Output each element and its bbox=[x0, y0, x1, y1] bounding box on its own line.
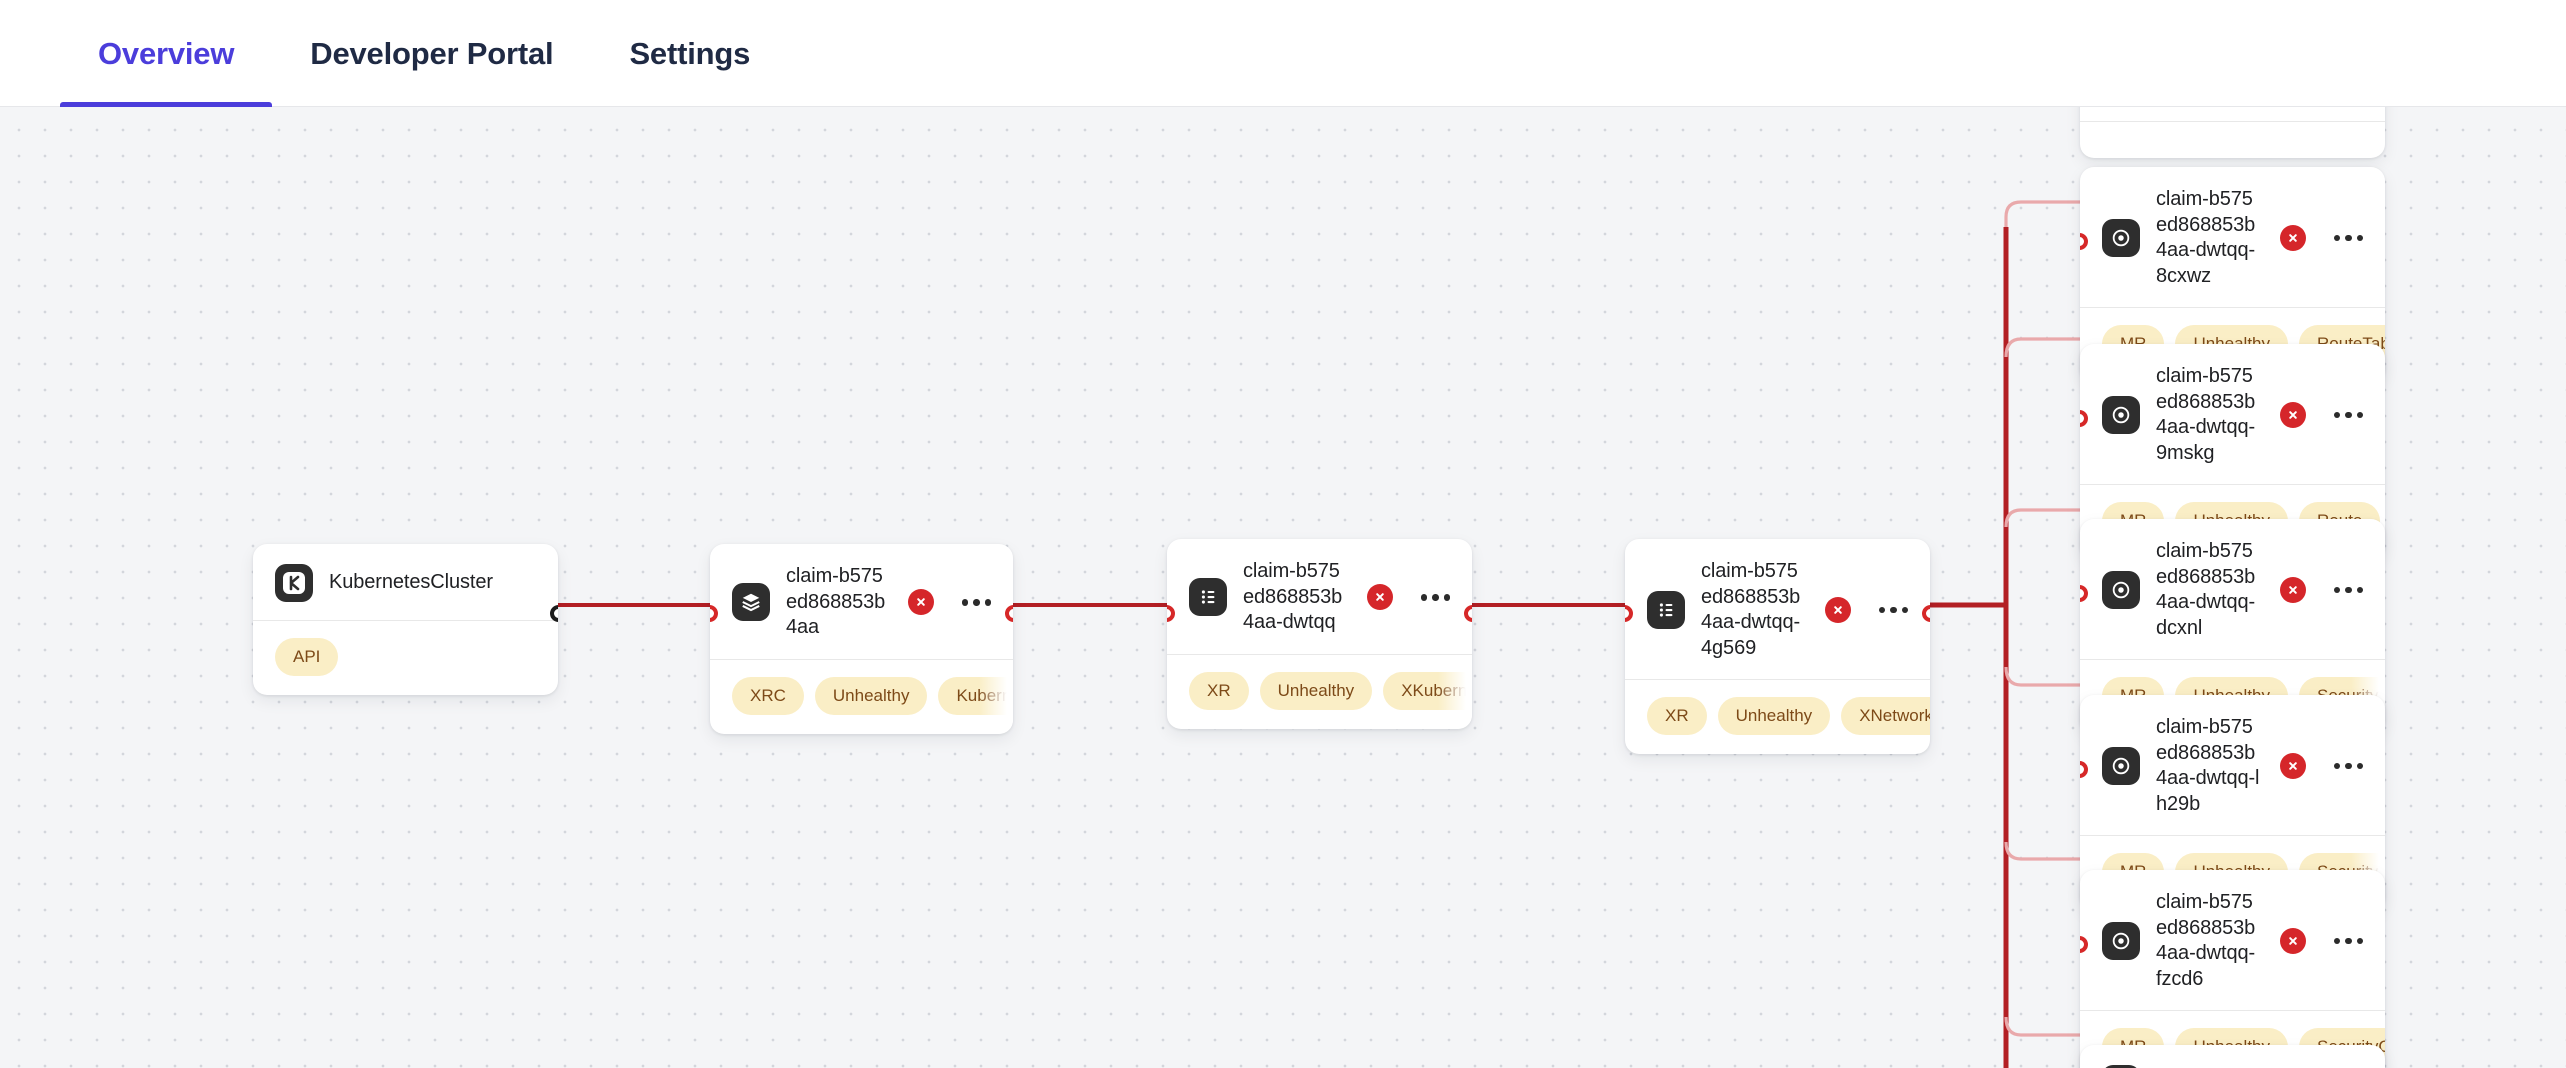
node-claim-xrc[interactable]: claim-b575ed868853b4aa XRC Unhealthy Kub… bbox=[710, 544, 1013, 734]
target-circle-icon bbox=[2102, 747, 2140, 785]
target-circle-icon bbox=[2102, 571, 2140, 609]
node-header: claim-b575ed868853b4aa bbox=[710, 544, 1013, 659]
tag-pill: XKubernetesCluster bbox=[1383, 672, 1472, 710]
node-title: claim-b575ed868853b4aa bbox=[786, 564, 892, 641]
tab-overview[interactable]: Overview bbox=[60, 0, 272, 107]
node-managed-resource-partial-top[interactable] bbox=[2080, 107, 2385, 158]
node-menu-icon[interactable] bbox=[2322, 757, 2368, 776]
node-menu-icon[interactable] bbox=[2322, 229, 2368, 248]
node-header: KubernetesCluster bbox=[253, 544, 558, 620]
target-circle-icon bbox=[2102, 219, 2140, 257]
node-tags: XR Unhealthy XKubernetesCluster bbox=[1167, 655, 1472, 729]
node-menu-icon[interactable] bbox=[2322, 932, 2368, 951]
node-claim-dwtqq[interactable]: claim-b575ed868853b4aa-dwtqq XR Unhealth… bbox=[1167, 539, 1472, 729]
node-tags: XRC Unhealthy KubernetesCluster bbox=[710, 660, 1013, 734]
node-header: claim-b575ed868853b4aa-dwtqq-9mskg bbox=[2080, 344, 2385, 484]
node-managed-resource-partial-bottom[interactable] bbox=[2080, 1045, 2385, 1068]
error-badge-icon[interactable] bbox=[2280, 577, 2306, 603]
tag-pill: Unhealthy bbox=[1260, 672, 1373, 710]
error-badge-icon[interactable] bbox=[1825, 597, 1851, 623]
node-title: claim-b575ed868853b4aa-dwtqq-lh29b bbox=[2156, 715, 2264, 817]
error-badge-icon[interactable] bbox=[1367, 584, 1393, 610]
top-tab-bar: Overview Developer Portal Settings bbox=[0, 0, 2566, 107]
layers-stack-icon bbox=[732, 583, 770, 621]
node-claim-dwtqq-4g569[interactable]: claim-b575ed868853b4aa-dwtqq-4g569 XR Un… bbox=[1625, 539, 1930, 754]
list-rows-icon bbox=[1647, 591, 1685, 629]
node-header: claim-b575ed868853b4aa-dwtqq-8cxwz bbox=[2080, 167, 2385, 307]
node-tags: XR Unhealthy XNetwork bbox=[1625, 680, 1930, 754]
error-badge-icon[interactable] bbox=[2280, 225, 2306, 251]
tab-settings-label: Settings bbox=[629, 36, 750, 72]
node-title: KubernetesCluster bbox=[329, 570, 540, 596]
tab-overview-label: Overview bbox=[98, 36, 234, 72]
node-title: claim-b575ed868853b4aa-dwtqq-dcxnl bbox=[2156, 539, 2264, 641]
node-header: claim-b575ed868853b4aa-dwtqq-4g569 bbox=[1625, 539, 1930, 679]
node-header: claim-b575ed868853b4aa-dwtqq-dcxnl bbox=[2080, 519, 2385, 659]
tab-list: Overview Developer Portal Settings bbox=[60, 0, 788, 107]
tag-pill: API bbox=[275, 638, 338, 676]
node-tags: API bbox=[253, 621, 558, 695]
node-header: claim-b575ed868853b4aa-dwtqq-fzcd6 bbox=[2080, 870, 2385, 1010]
node-header bbox=[2080, 107, 2385, 121]
tag-pill: Unhealthy bbox=[1718, 697, 1831, 735]
node-title: claim-b575ed868853b4aa-dwtqq-9mskg bbox=[2156, 364, 2264, 466]
tag-pill: Unhealthy bbox=[815, 677, 928, 715]
tab-developer-portal-label: Developer Portal bbox=[310, 36, 553, 72]
resource-graph-canvas[interactable]: KubernetesCluster API claim-b575ed868853… bbox=[0, 107, 2566, 1068]
node-header bbox=[2080, 1045, 2385, 1068]
tag-pill: KubernetesCluster bbox=[938, 677, 1013, 715]
list-rows-icon bbox=[1189, 578, 1227, 616]
tag-pill: XR bbox=[1189, 672, 1249, 710]
node-title: claim-b575ed868853b4aa-dwtqq bbox=[1243, 559, 1351, 636]
node-title: claim-b575ed868853b4aa-dwtqq-fzcd6 bbox=[2156, 890, 2264, 992]
target-circle-icon bbox=[2102, 396, 2140, 434]
node-menu-icon[interactable] bbox=[2322, 406, 2368, 425]
node-managed-resource-fzcd6[interactable]: claim-b575ed868853b4aa-dwtqq-fzcd6 MR Un… bbox=[2080, 870, 2385, 1068]
error-badge-icon[interactable] bbox=[908, 589, 934, 615]
node-title: claim-b575ed868853b4aa-dwtqq-4g569 bbox=[1701, 559, 1809, 661]
tab-settings[interactable]: Settings bbox=[591, 0, 788, 107]
node-tags bbox=[2080, 122, 2385, 158]
node-header: claim-b575ed868853b4aa-dwtqq-lh29b bbox=[2080, 695, 2385, 835]
kubernetes-logo-icon bbox=[275, 564, 313, 602]
tag-pill: XRC bbox=[732, 677, 804, 715]
tab-developer-portal[interactable]: Developer Portal bbox=[272, 0, 591, 107]
tag-pill: XNetwork bbox=[1841, 697, 1930, 735]
error-badge-icon[interactable] bbox=[2280, 753, 2306, 779]
node-title: claim-b575ed868853b4aa-dwtqq-8cxwz bbox=[2156, 187, 2264, 289]
node-kubernetescluster[interactable]: KubernetesCluster API bbox=[253, 544, 558, 695]
error-badge-icon[interactable] bbox=[2280, 928, 2306, 954]
target-circle-icon bbox=[2102, 922, 2140, 960]
node-menu-icon[interactable] bbox=[1867, 601, 1913, 620]
node-menu-icon[interactable] bbox=[1409, 588, 1455, 607]
node-menu-icon[interactable] bbox=[950, 593, 996, 612]
error-badge-icon[interactable] bbox=[2280, 402, 2306, 428]
node-header: claim-b575ed868853b4aa-dwtqq bbox=[1167, 539, 1472, 654]
tag-pill: XR bbox=[1647, 697, 1707, 735]
node-menu-icon[interactable] bbox=[2322, 581, 2368, 600]
